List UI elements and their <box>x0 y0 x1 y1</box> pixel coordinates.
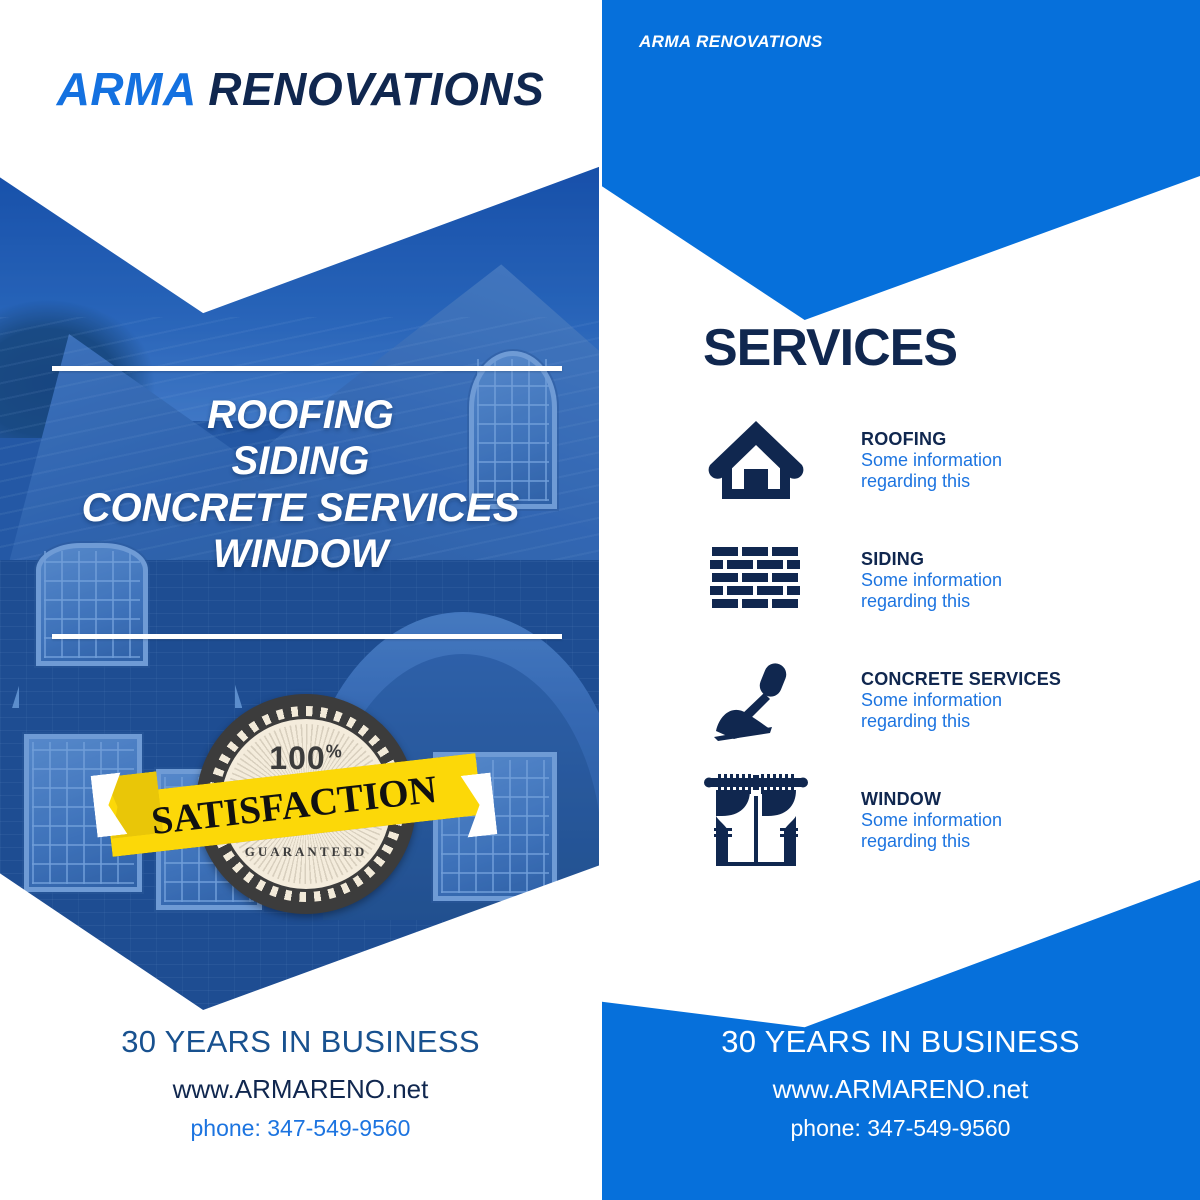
service-desc-concrete-line1: Some information <box>861 690 1061 711</box>
panel-divider <box>599 0 602 1200</box>
service-item-concrete[interactable]: CONCRETE SERVICES Some information regar… <box>697 652 1177 748</box>
brochure-page: ARMA RENOVATIONS <box>0 0 1200 1200</box>
brand-logo-part1: ARMA <box>57 63 195 115</box>
service-text-window: WINDOW Some information regarding this <box>815 788 1002 853</box>
satisfaction-guarantee-badge: 100% GUARANTEED SATISFACTION <box>108 688 480 920</box>
hero-service-roofing: ROOFING <box>0 392 601 438</box>
service-desc-window-line2: regarding this <box>861 831 1002 852</box>
right-footer-tagline: 30 YEARS IN BUSINESS <box>601 1024 1200 1060</box>
right-footer: 30 YEARS IN BUSINESS www.ARMARENO.net ph… <box>601 1024 1200 1142</box>
service-desc-siding-line2: regarding this <box>861 591 1002 612</box>
hero-service-window: WINDOW <box>0 531 601 577</box>
hero-rule-top <box>52 366 562 371</box>
left-footer: 30 YEARS IN BUSINESS www.ARMARENO.net ph… <box>0 1024 601 1142</box>
services-list: ROOFING Some information regarding this <box>697 412 1177 892</box>
service-desc-siding-line1: Some information <box>861 570 1002 591</box>
left-footer-website[interactable]: www.ARMARENO.net <box>0 1074 601 1105</box>
hero-service-siding: SIDING <box>0 438 601 484</box>
brand-logo-part2: RENOVATIONS <box>208 63 544 115</box>
service-desc-window-line1: Some information <box>861 810 1002 831</box>
services-heading: SERVICES <box>703 318 957 378</box>
service-desc-roofing-line2: regarding this <box>861 471 1002 492</box>
service-text-siding: SIDING Some information regarding this <box>815 548 1002 613</box>
left-panel: ARMA RENOVATIONS <box>0 0 601 1200</box>
service-desc-roofing-line1: Some information <box>861 450 1002 471</box>
left-footer-tagline: 30 YEARS IN BUSINESS <box>0 1024 601 1060</box>
badge-percent-symbol: % <box>326 741 343 761</box>
trowel-icon <box>697 652 815 748</box>
service-item-roofing[interactable]: ROOFING Some information regarding this <box>697 412 1177 508</box>
left-footer-phone[interactable]: phone: 347-549-9560 <box>0 1115 601 1142</box>
hero-service-concrete: CONCRETE SERVICES <box>0 485 601 531</box>
hero-rule-bottom <box>52 634 562 639</box>
service-item-window[interactable]: WINDOW Some information regarding this <box>697 772 1177 868</box>
right-footer-phone[interactable]: phone: 347-549-9560 <box>601 1115 1200 1142</box>
service-text-concrete: CONCRETE SERVICES Some information regar… <box>815 668 1061 733</box>
service-text-roofing: ROOFING Some information regarding this <box>815 428 1002 493</box>
brick-wall-icon <box>697 532 815 628</box>
right-panel-brand-logo: ARMA RENOVATIONS <box>639 32 823 52</box>
brand-logo: ARMA RENOVATIONS <box>0 62 601 116</box>
right-panel: ARMA RENOVATIONS SERVICES ROOFING Some i… <box>601 0 1200 1200</box>
curtains-window-icon <box>697 772 815 868</box>
house-icon <box>697 412 815 508</box>
service-item-siding[interactable]: SIDING Some information regarding this <box>697 532 1177 628</box>
hero-service-list: ROOFING SIDING CONCRETE SERVICES WINDOW <box>0 392 601 578</box>
badge-guaranteed-text: GUARANTEED <box>218 844 394 860</box>
service-name-roofing: ROOFING <box>861 428 1002 451</box>
right-footer-website[interactable]: www.ARMARENO.net <box>601 1074 1200 1105</box>
service-name-concrete: CONCRETE SERVICES <box>861 668 1061 691</box>
service-name-siding: SIDING <box>861 548 1002 571</box>
service-desc-concrete-line2: regarding this <box>861 711 1061 732</box>
service-name-window: WINDOW <box>861 788 1002 811</box>
